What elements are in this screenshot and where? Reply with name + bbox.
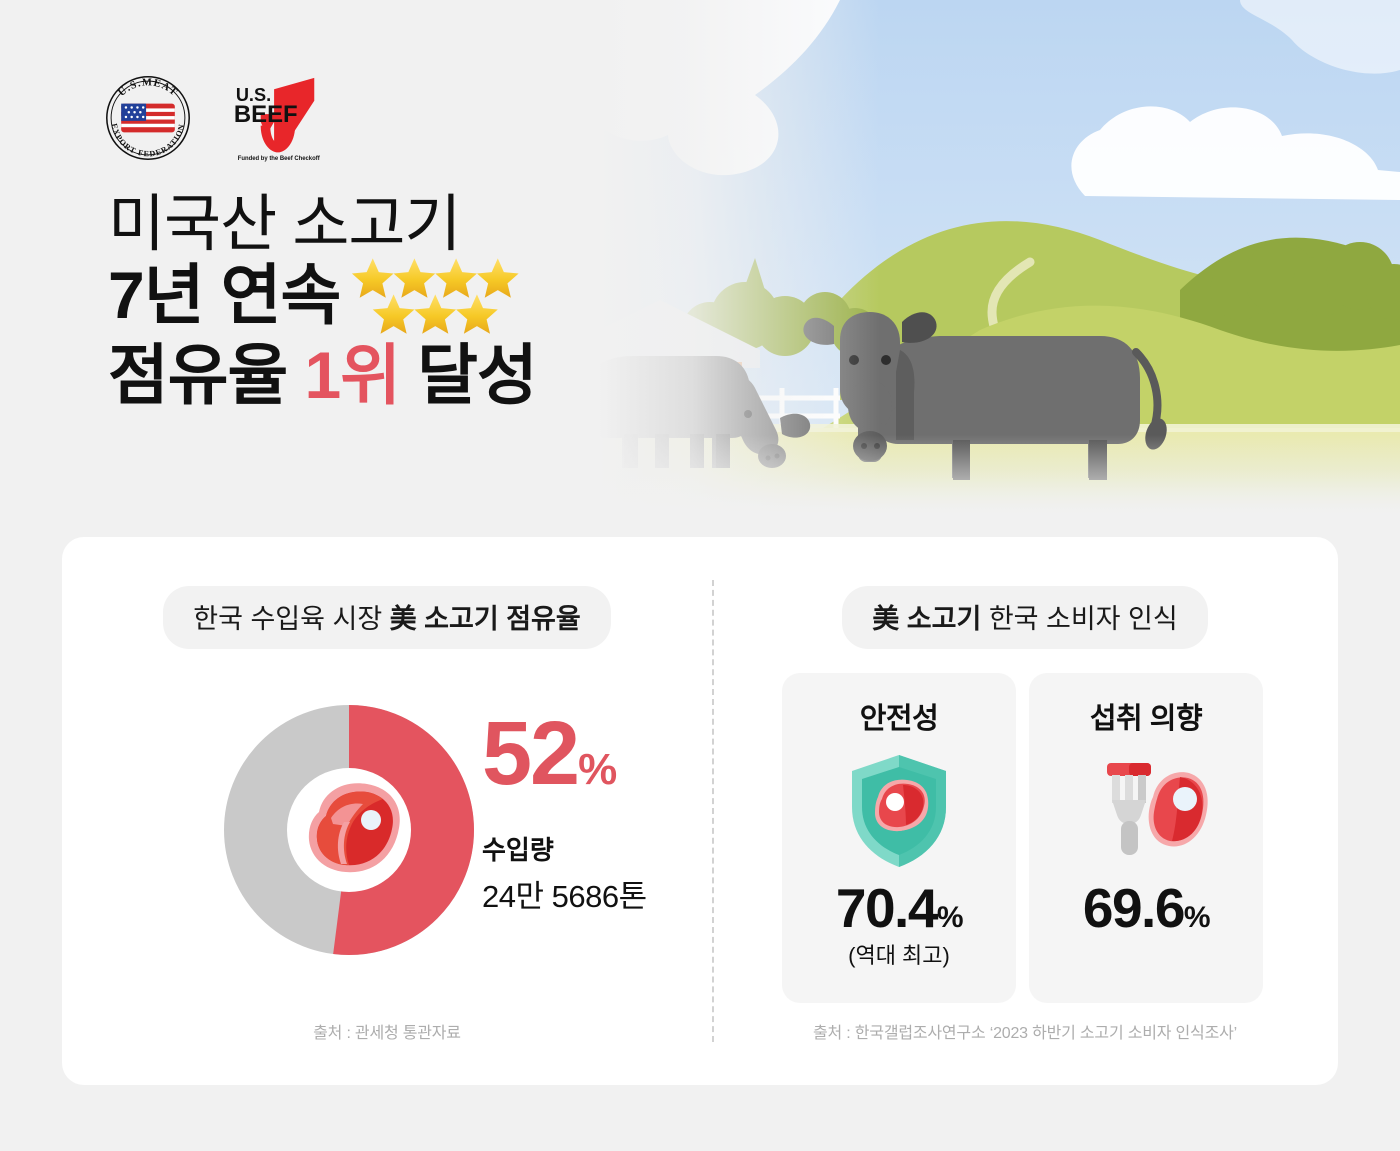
market-share-percent-number: 52 [482,704,578,804]
logo-beef-line2: BEEF [234,101,298,128]
metric-label-safety: 안전성 [860,695,939,737]
right-panel-title-regular: 한국 소비자 인식 [981,604,1177,634]
metric-value-safety-unit: % [937,901,962,934]
right-source-wrap: 출처 : 한국갤럽조사연구소 ‘2023 하반기 소고기 소비자 인식조사’ [712,1019,1338,1043]
farm-illustration [540,0,1400,525]
metric-value-intent-number: 69.6 [1083,877,1184,939]
right-panel-title: 美 소고기 한국 소비자 인식 [842,586,1207,649]
right-source-text: 출처 : 한국갤럽조사연구소 ‘2023 하반기 소고기 소비자 인식조사’ [813,1025,1237,1042]
metric-card-safety: 안전성 70.4% (역대 최고) [782,673,1016,1003]
steak-icon [279,760,419,900]
left-panel-title: 한국 수입육 시장 美 소고기 점유율 [163,586,610,649]
shield-steak-icon [834,745,964,875]
market-share-value-block: 52% 수입량 24만 5686톤 [482,712,712,916]
metric-card-intent: 섭취 의향 69.6% [1029,673,1263,1003]
metric-note-safety: (역대 최고) [848,938,950,970]
headline-line-1: 미국산 소고기 [108,190,537,259]
left-source-text: 출처 : 관세청 통관자료 [313,1025,461,1042]
seven-stars-icon [350,255,530,339]
logo-beef-tagline: Funded by the Beef Checkoff. [238,156,320,162]
market-share-donut-chart [224,705,474,955]
metric-label-intent: 섭취 의향 [1090,695,1202,737]
fork-steak-icon [1081,745,1211,875]
import-volume-label: 수입량 [482,830,712,867]
headline-rank-highlight: 1위 [305,338,400,412]
market-share-panel: 한국 수입육 시장 美 소고기 점유율 52% 수입량 24만 5686톤 출처… [62,537,712,1085]
metric-value-intent: 69.6% [1083,881,1209,936]
metric-value-intent-unit: % [1184,901,1209,934]
us-beef-logo: U.S. BEEF Funded by the Beef Checkoff. [232,72,320,164]
import-volume-value: 24만 5686톤 [482,871,712,916]
left-panel-title-wrap: 한국 수입육 시장 美 소고기 점유율 [62,586,712,649]
headline-line-2: 7년 연속 [108,259,537,339]
right-panel-title-bold: 美 소고기 [872,604,981,634]
headline-line-3: 점유율 1위 달성 [108,339,537,413]
left-panel-title-bold: 美 소고기 점유율 [390,604,581,634]
left-source-wrap: 출처 : 관세청 통관자료 [62,1019,712,1043]
left-panel-title-regular: 한국 수입육 시장 [193,604,389,634]
metric-value-safety-number: 70.4 [836,877,937,939]
headline: 미국산 소고기 7년 연속 점유율 1위 달성 [108,190,537,413]
right-panel-title-wrap: 美 소고기 한국 소비자 인식 [712,586,1338,649]
consumer-perception-panel: 美 소고기 한국 소비자 인식 안전성 70.4% (역대 최고) 섭취 의향 [712,537,1338,1085]
headline-line-2-text: 7년 연속 [108,259,340,333]
headline-line-3-pre: 점유율 [108,338,305,412]
us-meat-export-federation-logo: U.S.MEAT EXPORT FEDERATION [100,72,196,164]
metric-value-safety: 70.4% [836,881,962,936]
market-share-percent: 52% [482,712,712,798]
metric-card-group: 안전성 70.4% (역대 최고) 섭취 의향 [782,673,1263,1003]
logo-group: U.S.MEAT EXPORT FEDERATION U.S. BEEF Fun… [100,72,320,164]
market-share-percent-unit: % [578,745,615,794]
headline-line-3-post: 달성 [400,338,537,412]
